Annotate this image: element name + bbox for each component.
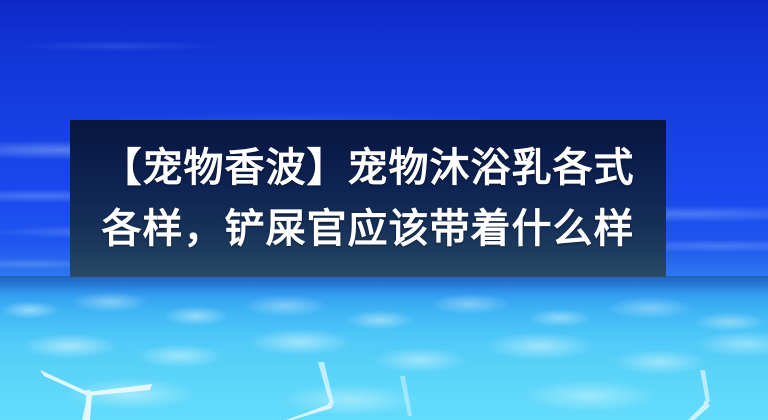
horizon-band	[0, 276, 768, 298]
cover-image-canvas: 【宠物香波】宠物沐浴乳各式 各样，铲屎官应该带着什么样	[0, 0, 768, 420]
title-banner: 【宠物香波】宠物沐浴乳各式 各样，铲屎官应该带着什么样	[70, 120, 666, 277]
title-text-block: 【宠物香波】宠物沐浴乳各式 各样，铲屎官应该带着什么样	[70, 120, 666, 277]
title-line-1: 【宠物香波】宠物沐浴乳各式	[102, 138, 635, 199]
title-line-2: 各样，铲屎官应该带着什么样	[102, 199, 635, 260]
